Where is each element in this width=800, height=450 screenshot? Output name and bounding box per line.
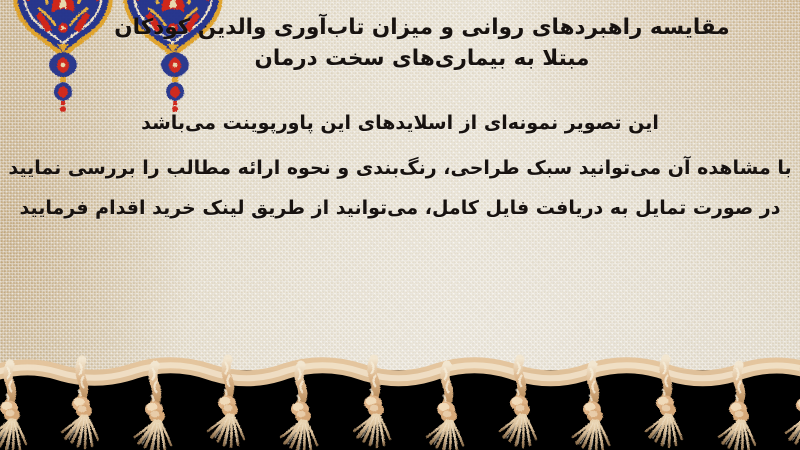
body-line-2: با مشاهده آن می‌توانید سبک طراحی، رنگ‌بن… <box>0 155 800 182</box>
slide-text-layer: مقایسه راهبردهای روانی و میزان تاب‌آوری … <box>0 0 800 378</box>
body-line-1: این تصویر نمونه‌ای از اسلایدهای این پاور… <box>0 110 800 137</box>
slide-title: مقایسه راهبردهای روانی و میزان تاب‌آوری … <box>72 12 772 74</box>
slide-body-block: این تصویر نمونه‌ای از اسلایدهای این پاور… <box>0 110 800 235</box>
body-line-3: در صورت تمایل به دریافت فایل کامل، می‌تو… <box>0 195 800 222</box>
presentation-slide: مقایسه راهبردهای روانی و میزان تاب‌آوری … <box>0 0 800 450</box>
